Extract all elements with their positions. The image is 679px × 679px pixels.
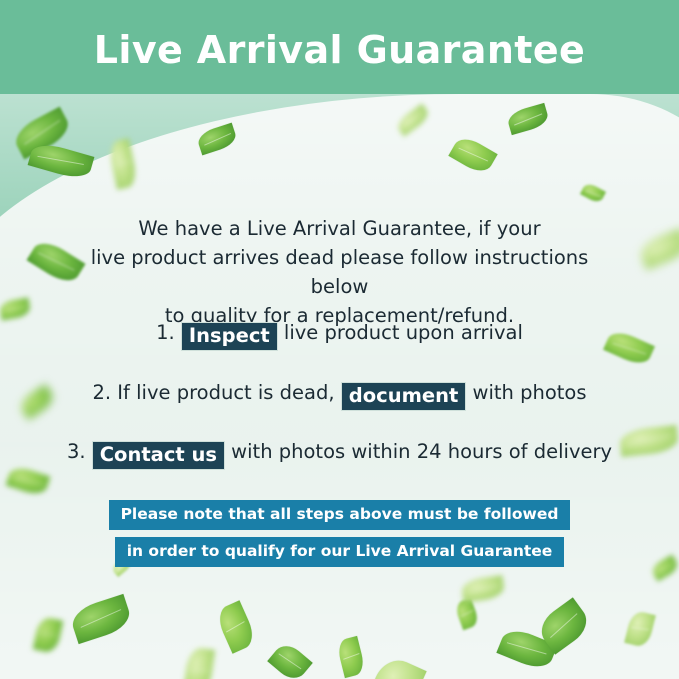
step-item-3: 3. Contact us with photos within 24 hour…	[30, 439, 649, 470]
intro-line-2: live product arrives dead please follow …	[60, 243, 619, 301]
step-item-2: 2. If live product is dead, document wit…	[30, 380, 649, 411]
steps-list: 1. Inspect live product upon arrival 2. …	[30, 320, 649, 470]
footer-note-row-2: in order to qualify for our Live Arrival…	[0, 537, 679, 567]
step-1-highlight-inspect[interactable]: Inspect	[181, 322, 278, 351]
intro-paragraph: We have a Live Arrival Guarantee, if you…	[60, 214, 619, 330]
live-arrival-guarantee-poster: Live Arrival Guarantee We have a Live Ar…	[0, 0, 679, 679]
step-2-number: 2.	[93, 381, 112, 404]
footer-notes: Please note that all steps above must be…	[0, 500, 679, 574]
step-1-number: 1.	[156, 321, 175, 344]
footer-note-line-1: Please note that all steps above must be…	[109, 500, 571, 530]
footer-note-line-2: in order to qualify for our Live Arrival…	[115, 537, 565, 567]
step-item-1: 1. Inspect live product upon arrival	[30, 320, 649, 351]
page-title: Live Arrival Guarantee	[0, 28, 679, 72]
step-2-text-before: If live product is dead,	[111, 381, 341, 404]
footer-note-row-1: Please note that all steps above must be…	[0, 500, 679, 530]
step-3-number: 3.	[67, 440, 86, 463]
step-3-highlight-contact-us[interactable]: Contact us	[92, 441, 225, 470]
step-1-text-after: live product upon arrival	[278, 321, 523, 344]
step-2-highlight-document[interactable]: document	[341, 382, 467, 411]
intro-line-1: We have a Live Arrival Guarantee, if you…	[60, 214, 619, 243]
content-area: We have a Live Arrival Guarantee, if you…	[0, 0, 679, 679]
step-2-text-after: with photos	[466, 381, 586, 404]
step-3-text-after: with photos within 24 hours of delivery	[225, 440, 612, 463]
